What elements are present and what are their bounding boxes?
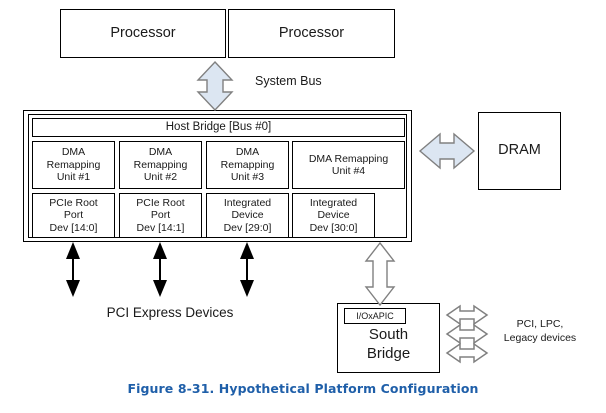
- system-bus-label: System Bus: [255, 74, 375, 89]
- integrated-device-dev-30-0: IntegratedDeviceDev [30:0]: [292, 193, 375, 238]
- pcie-device-arrow-2: [153, 242, 167, 297]
- pcie-root-port-dev-14-1: PCIe RootPortDev [14:1]: [119, 193, 202, 238]
- south-bridge-link-block-arrow: [366, 243, 394, 305]
- host-bridge-box: Host Bridge [Bus #0]: [32, 118, 405, 137]
- pcie-device-arrow-1: [66, 242, 80, 297]
- processor-label-1: Processor: [110, 25, 175, 42]
- dma-remapping-unit-1-label: DMARemappingUnit #1: [47, 146, 101, 183]
- integrated-device-dev-29-0-label: IntegratedDeviceDev [29:0]: [224, 197, 272, 234]
- processor-box-2: Processor: [228, 9, 395, 58]
- legacy-bus-arrow-1: [447, 306, 487, 324]
- memory-bus-block-arrow: [420, 134, 474, 168]
- dma-remapping-unit-2: DMARemappingUnit #2: [119, 141, 202, 189]
- figure-canvas: Processor Processor System Bus Host Brid…: [0, 0, 606, 413]
- integrated-device-dev-29-0: IntegratedDeviceDev [29:0]: [206, 193, 289, 238]
- legacy-bus-arrow-3: [447, 344, 487, 362]
- dram-box: DRAM: [478, 112, 561, 190]
- processor-box-1: Processor: [60, 9, 226, 58]
- dma-remapping-unit-4: DMA RemappingUnit #4: [292, 141, 405, 189]
- system-bus-block-arrow: [198, 62, 232, 110]
- dma-remapping-unit-1: DMARemappingUnit #1: [32, 141, 115, 189]
- ioxapic-box: I/OxAPIC: [344, 308, 406, 324]
- pcie-device-arrow-3: [240, 242, 254, 297]
- pcie-root-port-dev-14-0-label: PCIe RootPortDev [14:0]: [49, 197, 97, 234]
- legacy-bus-arrow-2: [447, 325, 487, 343]
- south-bridge-box: I/OxAPIC SouthBridge: [337, 303, 440, 373]
- host-bridge-label: Host Bridge [Bus #0]: [166, 121, 271, 135]
- legacy-devices-label: PCI, LPC,Legacy devices: [485, 318, 595, 345]
- pcie-root-port-dev-14-1-label: PCIe RootPortDev [14:1]: [136, 197, 184, 234]
- dram-label: DRAM: [498, 142, 541, 159]
- south-bridge-label: SouthBridge: [338, 326, 439, 364]
- dma-remapping-unit-4-label: DMA RemappingUnit #4: [309, 153, 388, 178]
- pci-express-devices-label: PCI Express Devices: [60, 305, 280, 321]
- dma-remapping-unit-3: DMARemappingUnit #3: [206, 141, 289, 189]
- processor-label-2: Processor: [279, 25, 344, 42]
- pcie-root-port-dev-14-0: PCIe RootPortDev [14:0]: [32, 193, 115, 238]
- ioxapic-label: I/OxAPIC: [356, 311, 394, 322]
- integrated-device-dev-30-0-label: IntegratedDeviceDev [30:0]: [310, 197, 358, 234]
- figure-caption: Figure 8-31. Hypothetical Platform Confi…: [0, 381, 606, 396]
- dma-remapping-unit-2-label: DMARemappingUnit #2: [134, 146, 188, 183]
- dma-remapping-unit-3-label: DMARemappingUnit #3: [221, 146, 275, 183]
